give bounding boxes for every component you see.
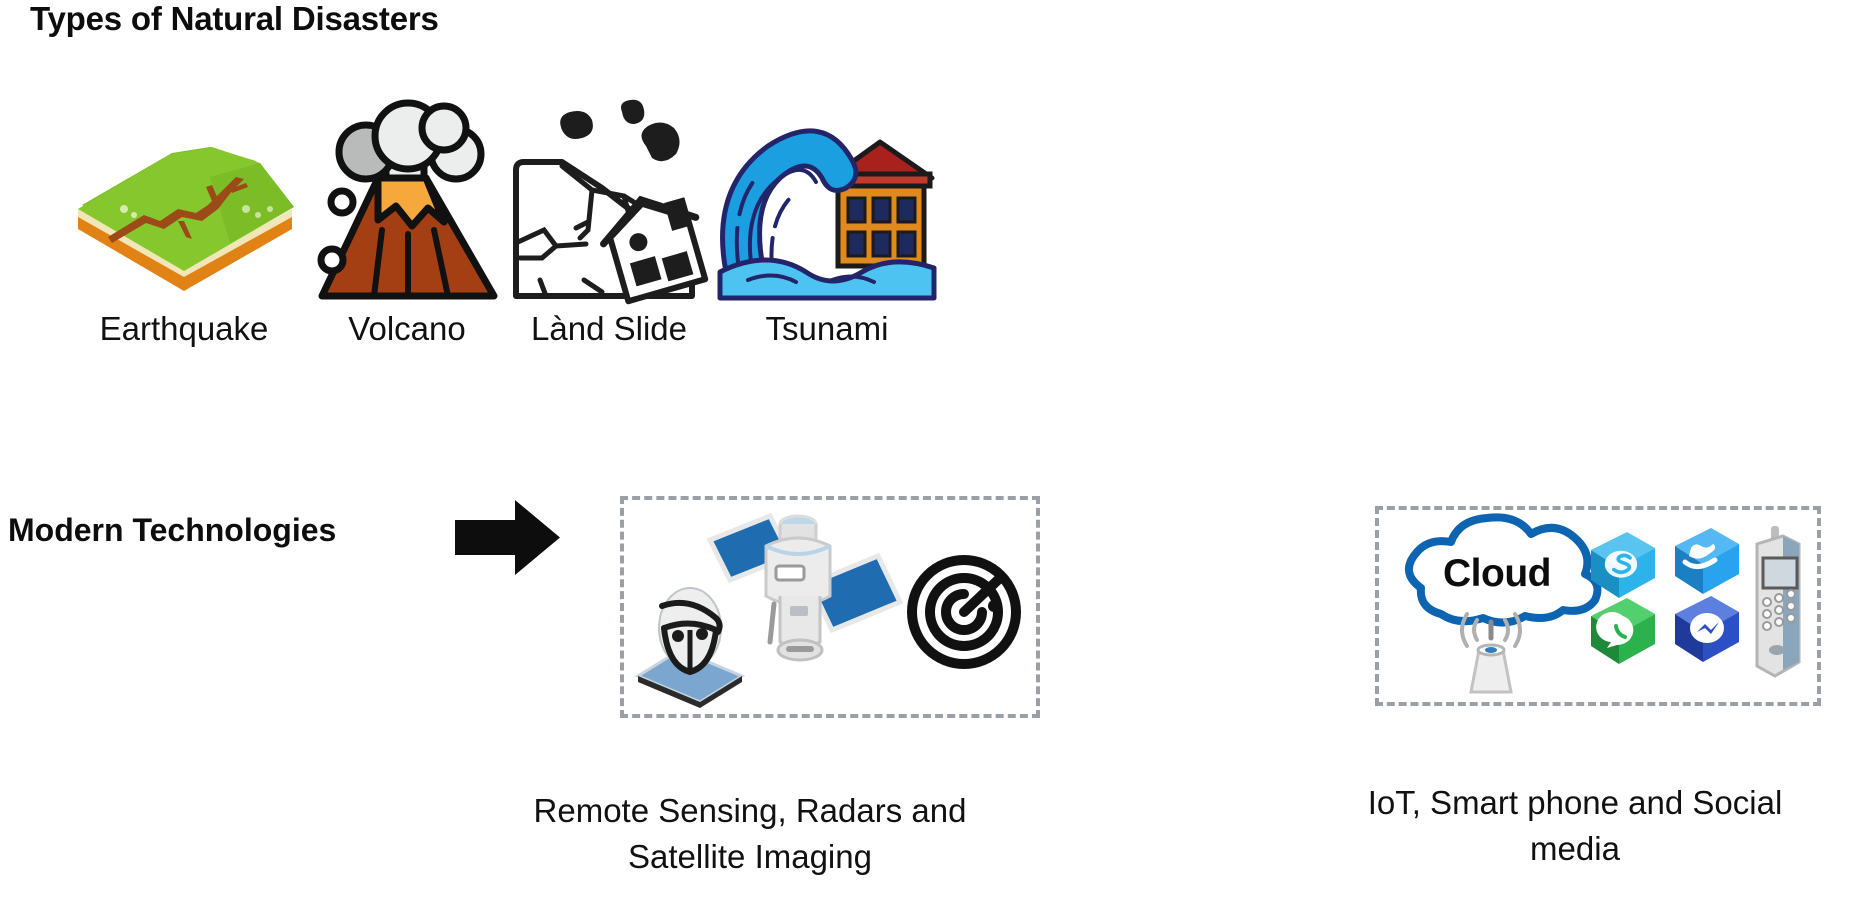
disaster-label-volcano: Volcano xyxy=(348,312,465,345)
panel-remote-sensing[interactable] xyxy=(620,496,1040,718)
panel-iot-social[interactable]: Cloud xyxy=(1375,506,1821,706)
caption-iot-social: IoT, Smart phone and Social media xyxy=(1270,780,1873,871)
caption-iot-social-line2: media xyxy=(1270,826,1873,872)
volcano-eruption-icon xyxy=(308,107,506,302)
disaster-item-tsunami[interactable]: Tsunami xyxy=(712,90,942,345)
landslide-cliff-rocks-icon xyxy=(506,107,712,302)
twitter-icon xyxy=(1675,528,1739,594)
modern-technologies-label: Modern Technologies xyxy=(8,512,336,549)
tsunami-wave-house-icon xyxy=(712,107,942,302)
caption-remote-sensing-line2: Satellite Imaging xyxy=(440,834,1060,880)
right-arrow-icon xyxy=(455,500,560,575)
page-title: Types of Natural Disasters xyxy=(30,0,439,38)
cloud-label: Cloud xyxy=(1417,552,1577,596)
satellite-icon xyxy=(710,516,900,660)
disaster-item-earthquake[interactable]: Earthquake xyxy=(60,90,308,345)
slide-canvas: Types of Natural Disasters xyxy=(0,0,1873,904)
radar-scope-icon xyxy=(912,560,1016,664)
earthquake-ground-crack-icon xyxy=(60,107,308,302)
messenger-icon xyxy=(1675,596,1739,662)
caption-remote-sensing: Remote Sensing, Radars and Satellite Ima… xyxy=(440,788,1060,879)
mobile-phone-icon xyxy=(1757,526,1799,676)
disaster-type-row: Earthquake xyxy=(60,90,1060,345)
disaster-item-volcano[interactable]: Volcano xyxy=(308,90,506,345)
disaster-label-landslide: Lànd Slide xyxy=(531,312,687,345)
disaster-item-landslide[interactable]: Lànd Slide xyxy=(506,90,712,345)
caption-remote-sensing-line1: Remote Sensing, Radars and xyxy=(440,788,1060,834)
disaster-label-tsunami: Tsunami xyxy=(766,312,889,345)
whatsapp-icon xyxy=(1591,598,1655,664)
satellite-dish-radome-icon xyxy=(638,588,742,708)
disaster-label-earthquake: Earthquake xyxy=(100,312,269,345)
caption-iot-social-line1: IoT, Smart phone and Social xyxy=(1270,780,1873,826)
